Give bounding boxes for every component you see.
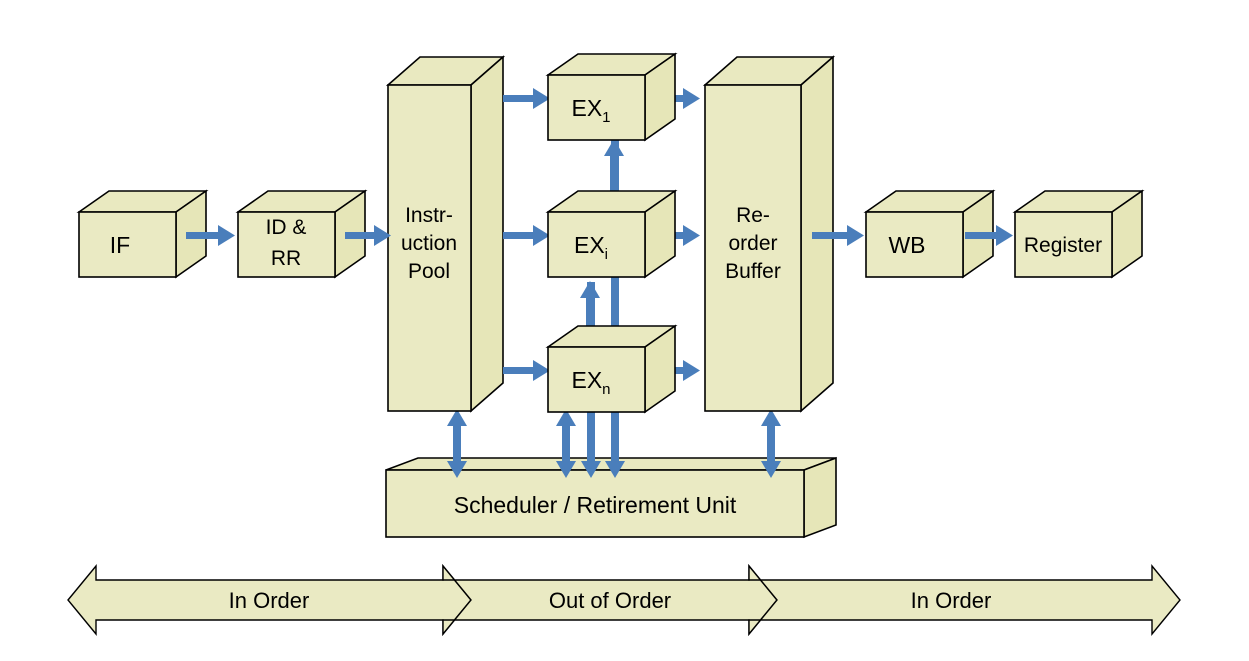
arrow-instruction-pool-to-ex-1 xyxy=(503,88,550,109)
id-rr-label-line-2: RR xyxy=(271,247,301,270)
stage-box-ex-1[interactable]: EX1 xyxy=(548,54,675,140)
order-band: In Order Out of Order In Order xyxy=(68,566,1180,634)
band-label-in-order-back: In Order xyxy=(911,588,992,613)
arrow-instruction-pool-to-ex-n xyxy=(503,360,550,381)
if-label: IF xyxy=(110,232,130,258)
scheduler-label: Scheduler / Retirement Unit xyxy=(454,492,737,518)
instruction-pool-label-line-3: Pool xyxy=(408,260,450,283)
band-label-out-of-order: Out of Order xyxy=(549,588,671,613)
instruction-pool-label-line-2: uction xyxy=(401,232,457,255)
id-rr-label-line-1: ID & xyxy=(266,216,307,239)
connector-ex-i-to-ex-1 xyxy=(604,139,624,195)
reorder-buffer-label-line-3: Buffer xyxy=(725,260,781,283)
pipeline-diagram-svg: In Order Out of Order In Order Scheduler… xyxy=(0,0,1249,661)
instruction-pool-side-face xyxy=(471,57,503,411)
register-label: Register xyxy=(1024,234,1102,257)
arrow-instruction-pool-to-ex-i xyxy=(503,225,550,246)
diagram-canvas: In Order Out of Order In Order Scheduler… xyxy=(0,0,1249,661)
stage-box-register[interactable]: Register xyxy=(1015,191,1142,277)
band-label-in-order-front: In Order xyxy=(229,588,310,613)
wb-label: WB xyxy=(888,232,925,258)
stage-box-ex-n[interactable]: EXn xyxy=(548,326,675,412)
stage-box-ex-i[interactable]: EXi xyxy=(548,191,675,277)
reorder-buffer-label-line-1: Re- xyxy=(736,204,770,227)
reorder-buffer-label-line-2: order xyxy=(728,232,777,255)
instruction-pool-label-line-1: Instr- xyxy=(405,204,453,227)
scheduler-side-face xyxy=(804,458,836,537)
stage-box-instruction-pool[interactable]: Instr- uction Pool xyxy=(388,57,503,411)
